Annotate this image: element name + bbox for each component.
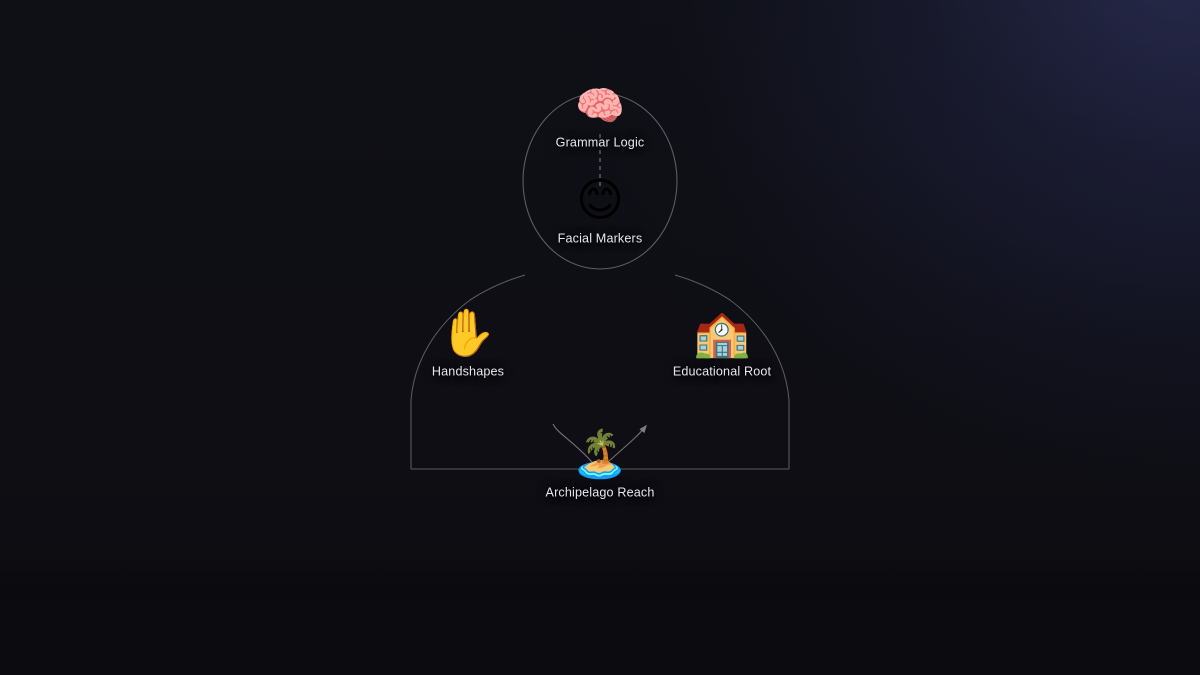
desert-island-emoji: 🏝️ [571,431,628,477]
brain-emoji: 🧠 [575,87,625,127]
school-emoji: 🏫 [693,310,750,356]
graph-node-educational-root[interactable]: 🏫 Educational Root [617,310,827,379]
raised-hand-emoji: ✋ [439,310,496,356]
footer-bar: Vectree Maldives Sign Language vectree.i… [0,555,1200,675]
graph-node-label: Archipelago Reach [546,486,655,500]
graph-node-label: Grammar Logic [556,136,645,150]
app-root: 🧠 Grammar Logic 😊 Facial Markers ✋ Hands… [0,0,1200,675]
cluster-outline-outer-left-top [470,275,525,300]
graph-node-label: Facial Markers [558,232,643,246]
graph-node-label: Educational Root [673,365,771,379]
graph-node-handshapes[interactable]: ✋ Handshapes [363,310,573,379]
graph-node-facial-markers[interactable]: 😊 Facial Markers [495,177,705,246]
graph-node-archipelago-reach[interactable]: 🏝️ Archipelago Reach [495,431,705,500]
graph-node-label: Handshapes [432,365,504,379]
cluster-outline-outer-right-top [675,275,730,300]
graph-node-grammar-logic[interactable]: 🧠 Grammar Logic [495,87,705,150]
smiling-face-emoji: 😊 [576,177,624,223]
